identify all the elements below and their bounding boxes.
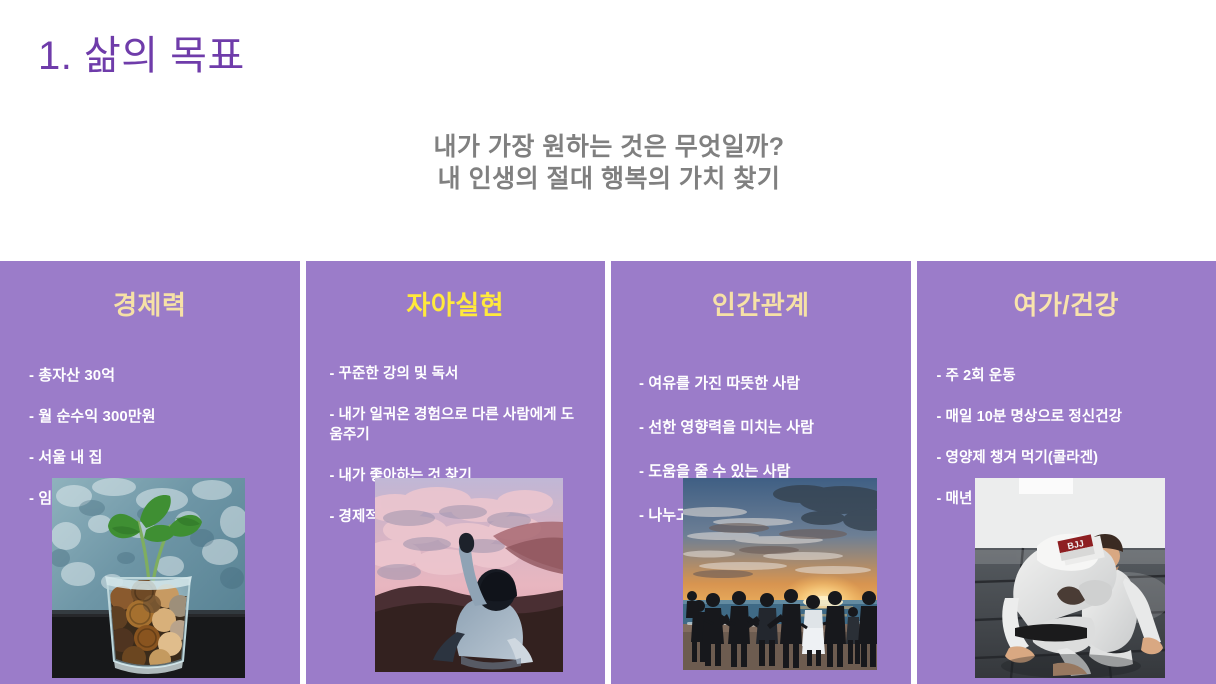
list-item: - 여유를 가진 따뜻한 사람: [639, 373, 814, 395]
list-item: - 서울 내 집: [29, 448, 213, 469]
card-header-leisure-health: 여가/건강: [917, 285, 1216, 322]
list-item: - 주 2회 운동: [937, 366, 1123, 387]
page-title: 1. 삶의 목표: [38, 23, 245, 81]
card-header-self-actualization: 자아실현: [306, 285, 606, 322]
goal-card-leisure-health[interactable]: 여가/건강 - 주 2회 운동 - 매일 10분 명상으로 정신건강 - 영양제…: [917, 261, 1216, 684]
card-header-relationships: 인간관계: [611, 285, 911, 322]
goal-card-row: 경제력 - 총자산 30억 - 월 순수익 300만원 - 서울 내 집 - 임…: [0, 261, 1216, 684]
subtitle-block: 내가 가장 원하는 것은 무엇일까? 내 인생의 절대 행복의 가치 찾기: [0, 131, 1216, 195]
subtitle-line-1: 내가 가장 원하는 것은 무엇일까?: [2, 131, 1216, 163]
list-item: - 월 순수익 300만원: [29, 407, 213, 428]
list-item: - 매일 10분 명상으로 정신건강: [937, 407, 1123, 428]
plant-growing-in-jar-of-coins-photo: [52, 478, 245, 678]
subtitle-line-2: 내 인생의 절대 행복의 가치 찾기: [2, 163, 1216, 195]
jiu-jitsu-grappling-training-photo: BJJ: [975, 478, 1165, 678]
slide-canvas: 1. 삶의 목표 내가 가장 원하는 것은 무엇일까? 내 인생의 절대 행복의…: [0, 0, 1216, 684]
goal-card-relationships[interactable]: 인간관계 - 여유를 가진 따뜻한 사람 - 선한 영향력을 미치는 사람 - …: [611, 261, 911, 684]
list-item: - 꾸준한 강의 및 독서: [330, 364, 588, 385]
list-item: - 총자산 30억: [29, 366, 213, 387]
group-holding-hands-at-beach-sunset-photo: [683, 478, 877, 670]
list-item: - 내가 일궈온 경험으로 다른 사람에게 도움주기: [330, 405, 588, 446]
list-item: - 영양제 챙겨 먹기(콜라겐): [937, 448, 1123, 469]
person-raising-fist-above-clouds-photo: [375, 478, 563, 672]
goal-card-economy[interactable]: 경제력 - 총자산 30억 - 월 순수익 300만원 - 서울 내 집 - 임…: [0, 261, 300, 684]
goal-card-self-actualization[interactable]: 자아실현 - 꾸준한 강의 및 독서 - 내가 일궈온 경험으로 다른 사람에게…: [306, 261, 606, 684]
card-header-economy: 경제력: [0, 285, 300, 322]
list-item: - 선한 영향력을 미치는 사람: [639, 417, 814, 439]
